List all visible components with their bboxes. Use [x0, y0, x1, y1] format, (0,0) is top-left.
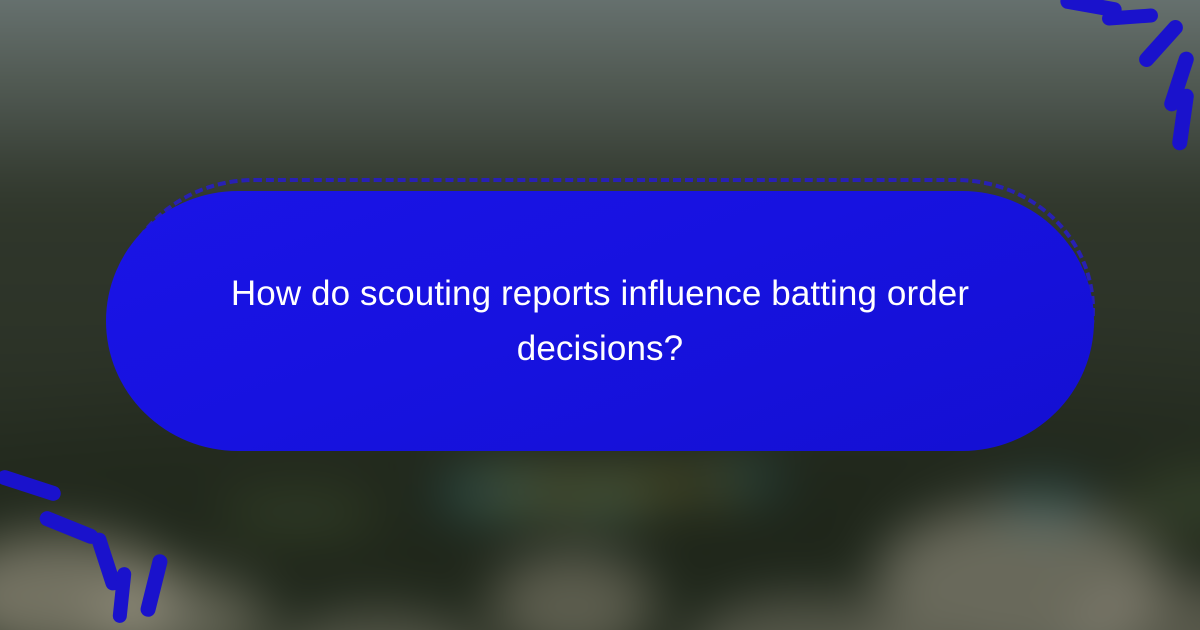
sparkle-burst-icon-top-right [1040, 0, 1200, 144]
sparkle-ray-icon [1102, 8, 1159, 26]
question-card: How do scouting reports influence battin… [106, 191, 1094, 451]
question-text: How do scouting reports influence battin… [230, 266, 970, 376]
sparkle-ray-icon [0, 468, 63, 503]
background-roof-accent [998, 487, 1092, 522]
sparkle-burst-icon-bottom-left [0, 470, 154, 630]
background-foliage [216, 494, 382, 531]
background-foliage [1122, 471, 1200, 533]
background-highlight [627, 475, 752, 494]
question-card-banner: How do scouting reports influence battin… [0, 0, 1200, 630]
